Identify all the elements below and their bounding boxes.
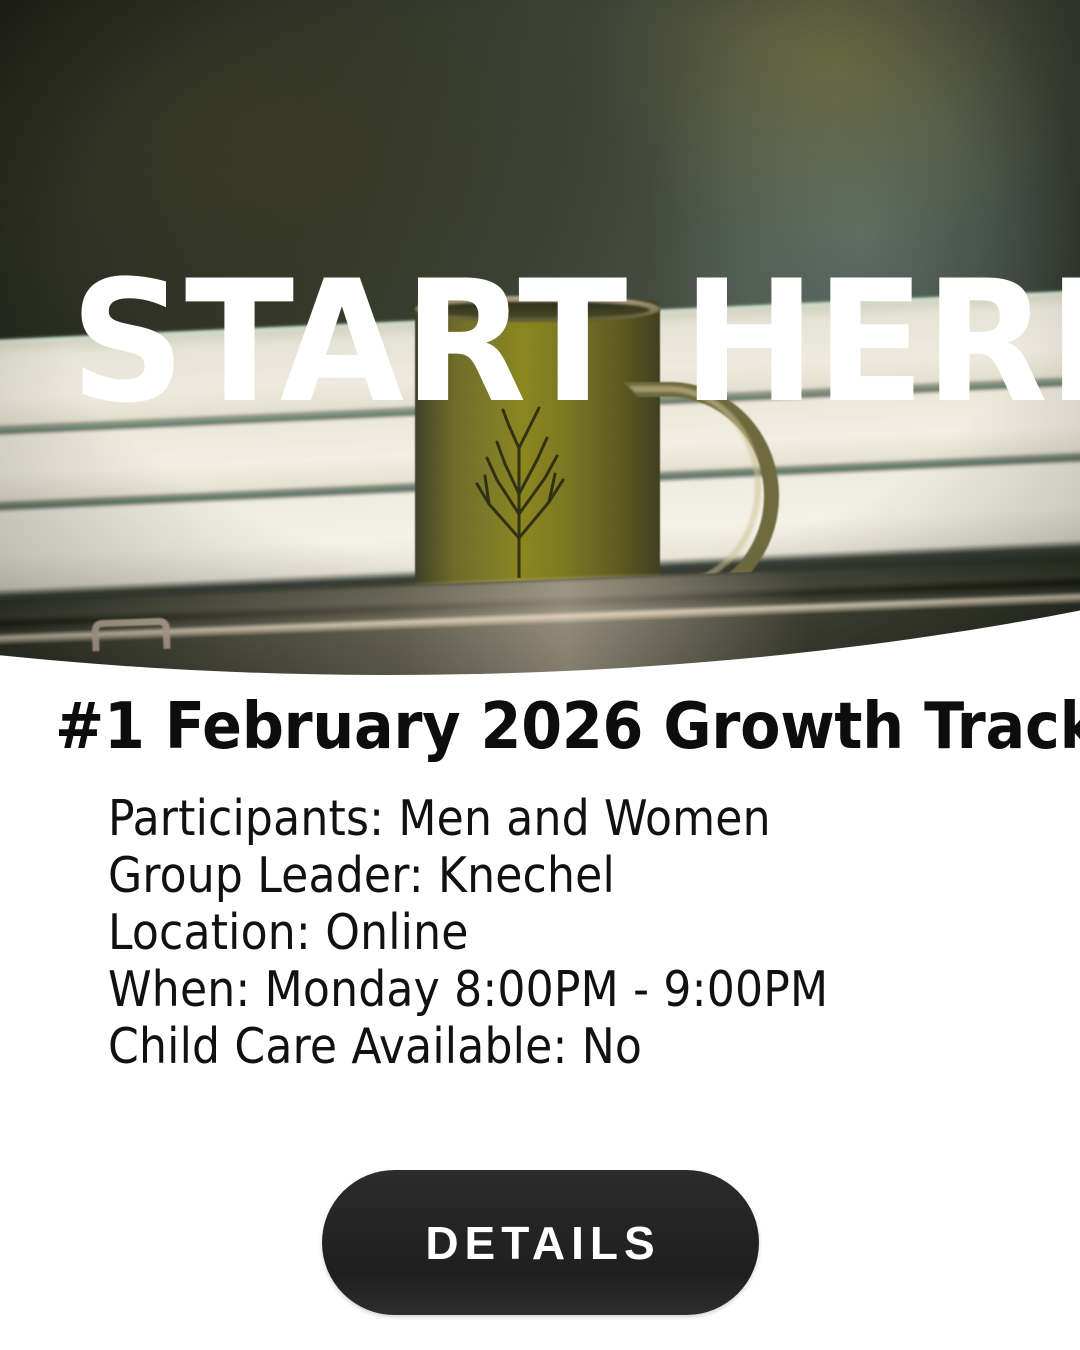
detail-when: When: Monday 8:00PM - 9:00PM — [108, 961, 828, 1018]
content-panel: #1 February 2026 Growth Track Participan… — [0, 690, 1080, 1350]
hero-title: START HERE — [70, 258, 1066, 426]
detail-location: Location: Online — [108, 904, 828, 961]
event-title: #1 February 2026 Growth Track — [55, 695, 1080, 759]
detail-child-care: Child Care Available: No — [108, 1018, 828, 1075]
growth-track-event-card: START HERE #1 February 2026 Growth Track… — [0, 0, 1080, 1350]
detail-group-leader: Group Leader: Knechel — [108, 847, 828, 904]
hero-image: START HERE — [0, 0, 1080, 690]
event-details-list: Participants: Men and Women Group Leader… — [108, 790, 828, 1075]
cta-container: DETAILS — [0, 1170, 1080, 1315]
table-clip — [91, 618, 170, 652]
detail-participants: Participants: Men and Women — [108, 790, 828, 847]
details-button[interactable]: DETAILS — [322, 1170, 759, 1315]
